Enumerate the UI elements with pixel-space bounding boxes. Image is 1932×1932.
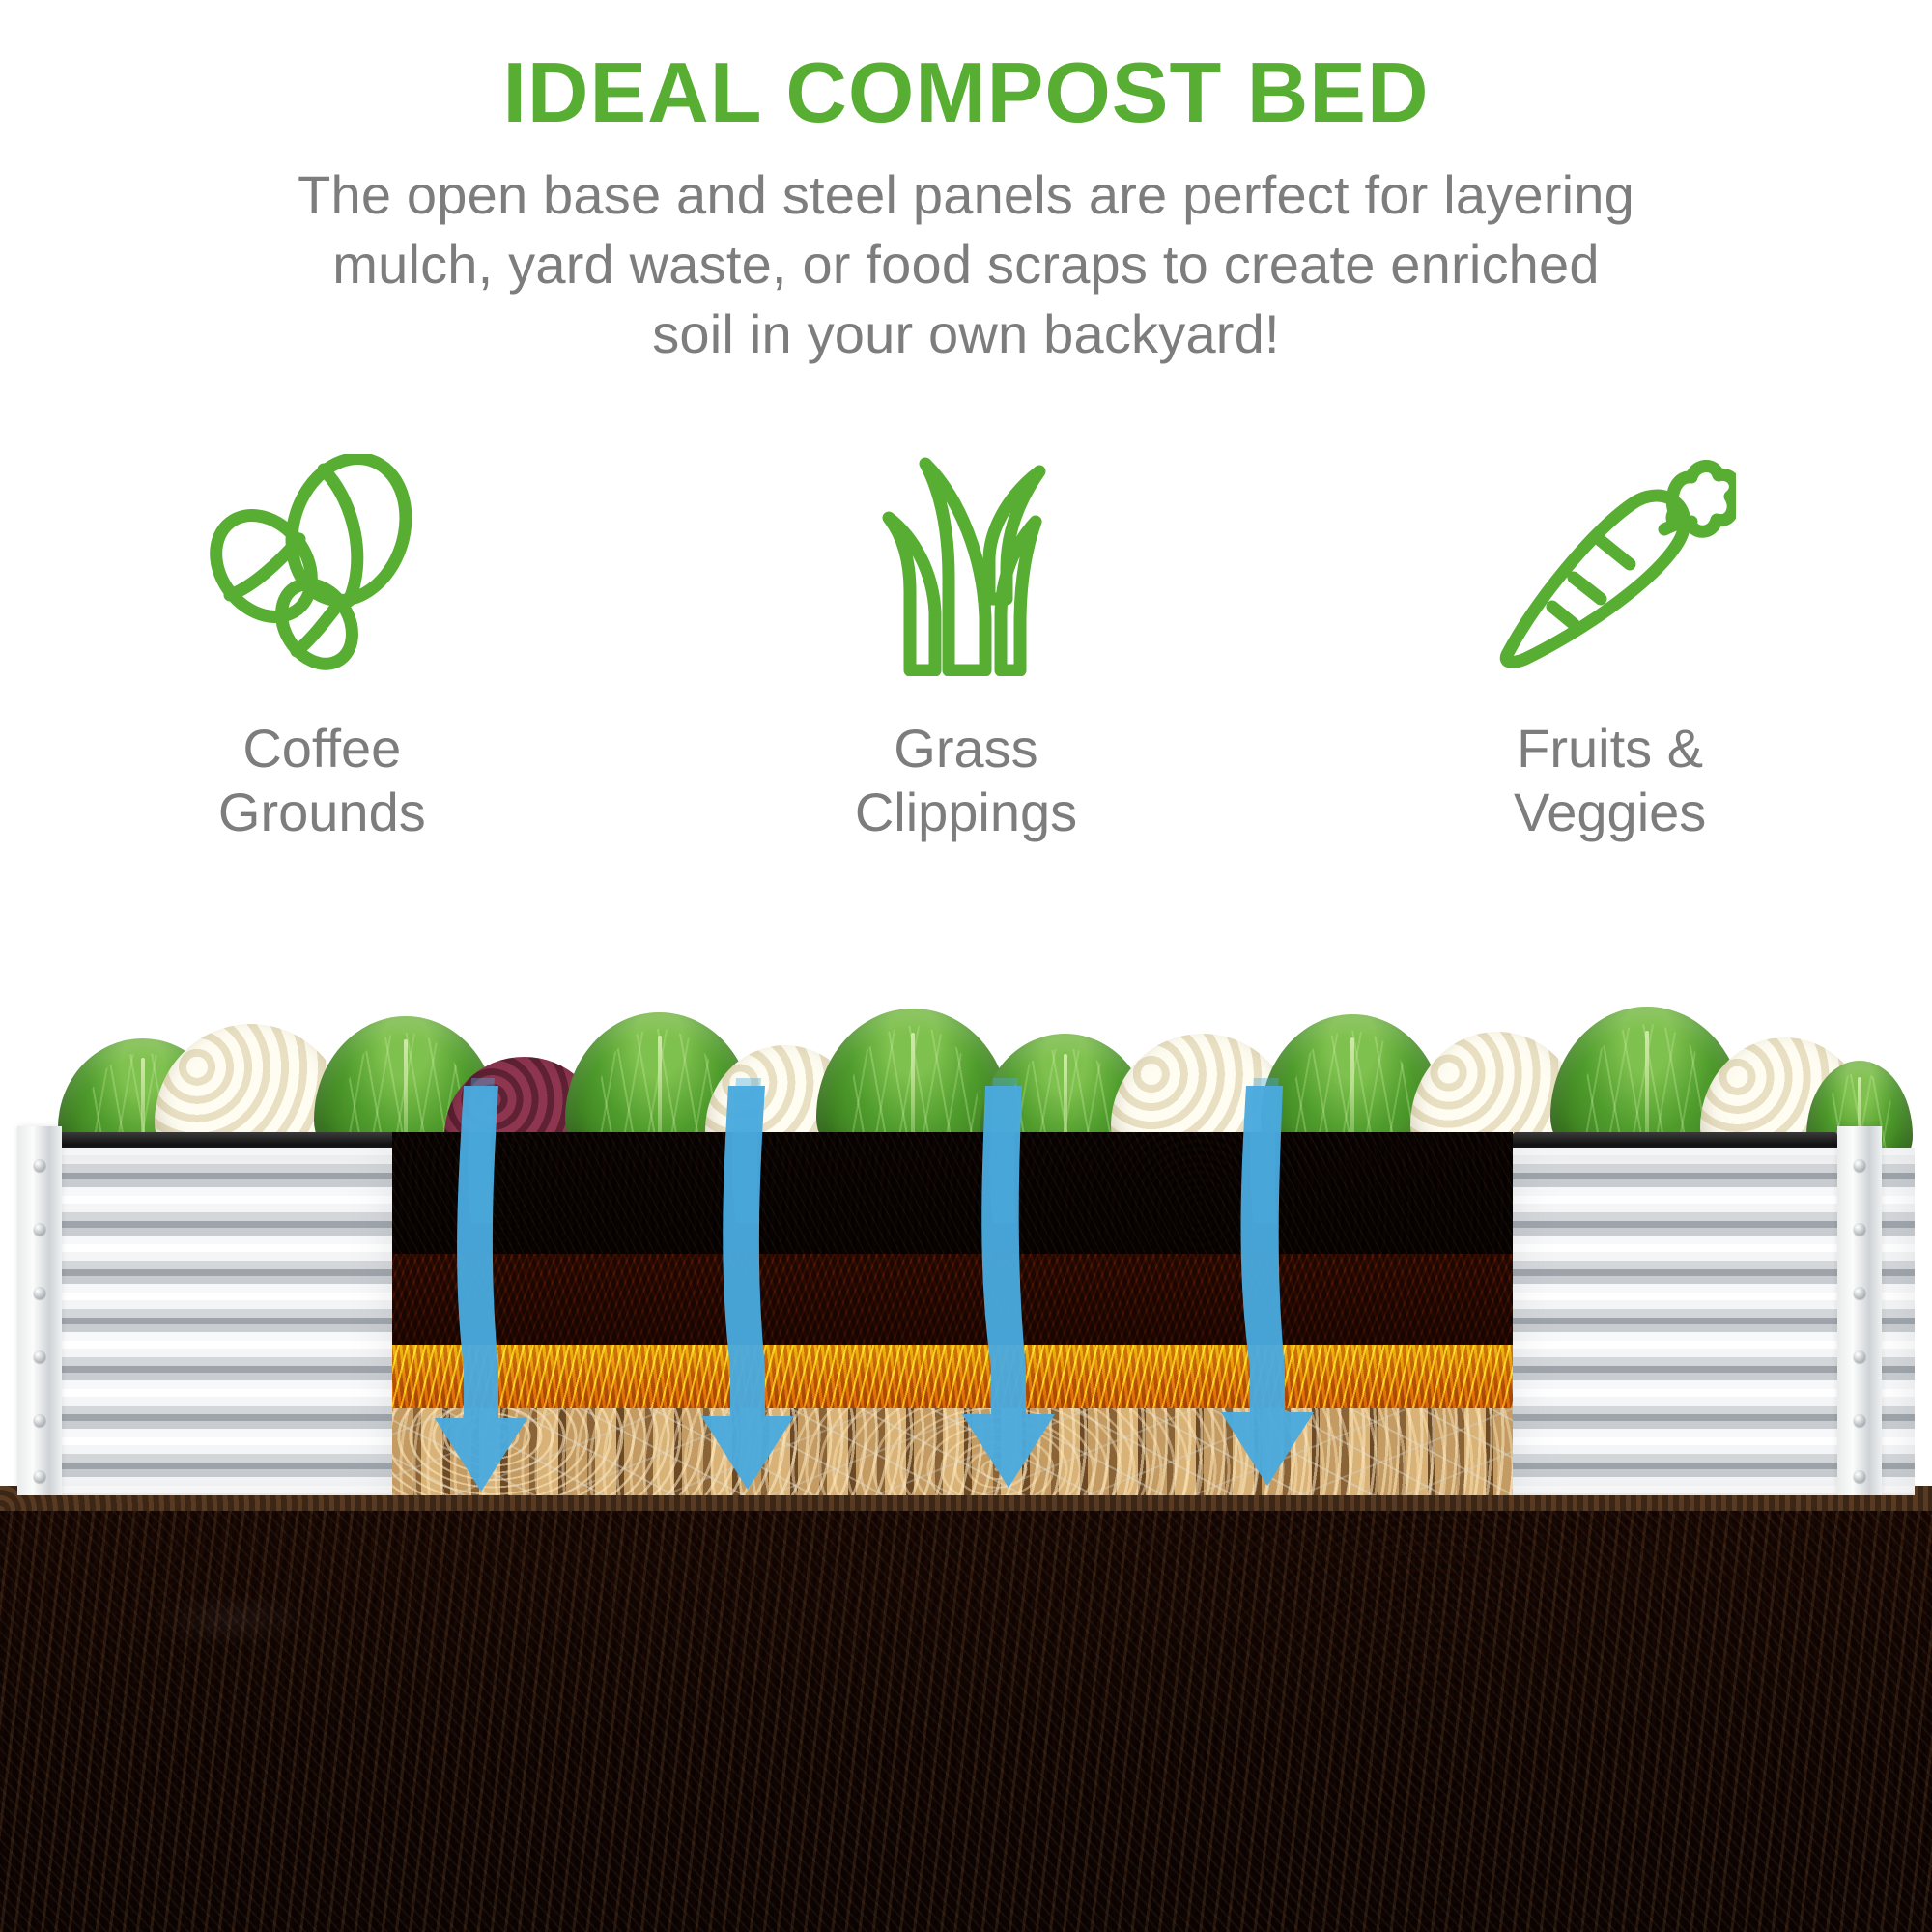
feature-coffee-label-line1: Coffee: [218, 717, 426, 781]
subtitle-line-1: The open base and steel panels are perfe…: [0, 160, 1932, 230]
product-scene: [0, 1005, 1932, 1932]
feature-coffee-label: Coffee Grounds: [218, 717, 426, 844]
feature-grass-label-line2: Clippings: [855, 781, 1077, 844]
drainage-arrows: [375, 1078, 1495, 1580]
steel-panel-left: [17, 1148, 392, 1495]
feature-fruits-veggies: Fruits & Veggies: [1340, 454, 1881, 844]
page-subtitle: The open base and steel panels are perfe…: [0, 160, 1932, 370]
corner-post-right: [1837, 1126, 1882, 1495]
feature-veggies-label-line2: Veggies: [1514, 781, 1706, 844]
carrot-icon: [1485, 454, 1736, 676]
header: IDEAL COMPOST BED The open base and stee…: [0, 0, 1932, 370]
grass-blades-icon: [860, 454, 1072, 676]
feature-veggies-label-line1: Fruits &: [1514, 717, 1706, 781]
subtitle-line-3: soil in your own backyard!: [0, 299, 1932, 369]
infographic-page: IDEAL COMPOST BED The open base and stee…: [0, 0, 1932, 1932]
feature-veggies-label: Fruits & Veggies: [1514, 717, 1706, 844]
corner-post-left: [17, 1126, 62, 1495]
feature-grass-label: Grass Clippings: [855, 717, 1077, 844]
coffee-beans-icon: [196, 454, 447, 676]
subtitle-line-2: mulch, yard waste, or food scraps to cre…: [0, 230, 1932, 299]
feature-icon-row: Coffee Grounds Grass Clipp: [0, 454, 1932, 844]
feature-grass-clippings: Grass Clippings: [696, 454, 1236, 844]
feature-coffee-label-line2: Grounds: [218, 781, 426, 844]
feature-coffee-grounds: Coffee Grounds: [51, 454, 592, 844]
feature-grass-label-line1: Grass: [855, 717, 1077, 781]
page-title: IDEAL COMPOST BED: [0, 0, 1932, 135]
